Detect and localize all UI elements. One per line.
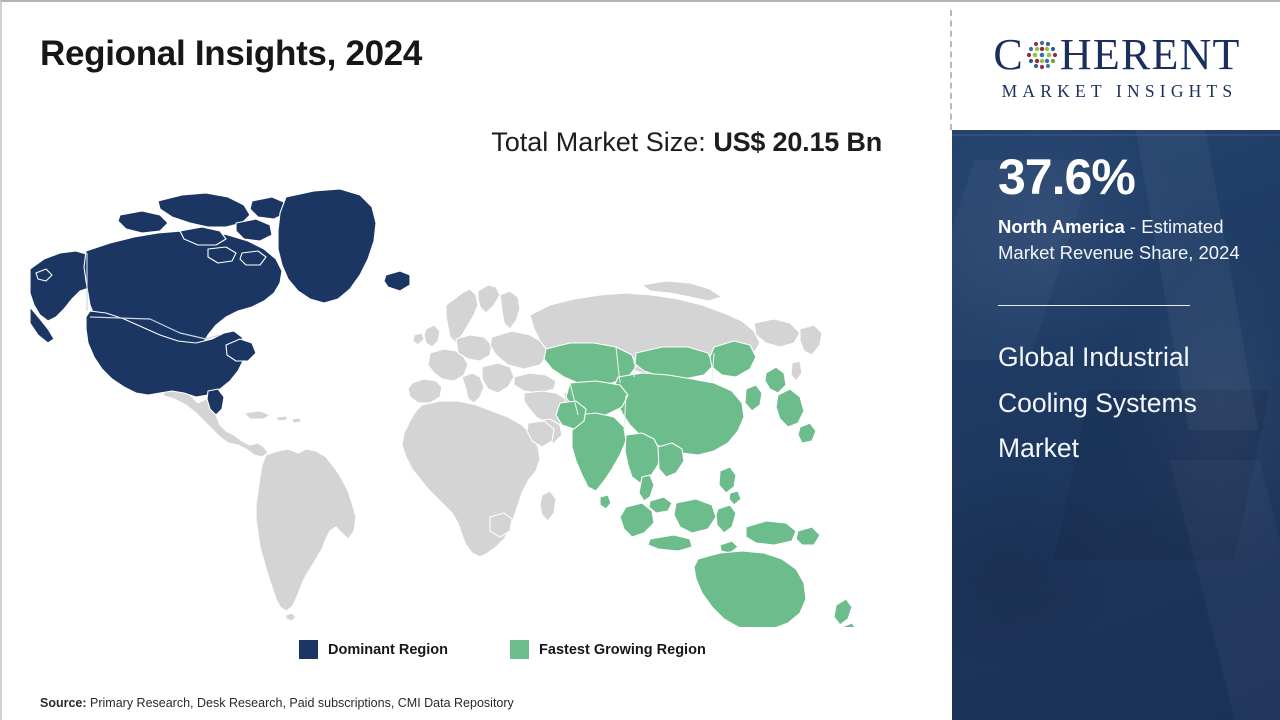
legend-item-fastest: Fastest Growing Region <box>510 640 706 659</box>
market-title: Global Industrial Cooling Systems Market <box>998 335 1248 472</box>
source-note: Source: Primary Research, Desk Research,… <box>40 696 514 710</box>
logo-wordmark-text: HERENT <box>1060 33 1241 77</box>
world-map-svg <box>30 187 920 627</box>
background-texture <box>1170 460 1280 720</box>
logo-letter-c: C <box>993 33 1024 77</box>
regional-stat-panel: 37.6% North America - Estimated Market R… <box>952 130 1280 720</box>
stat-divider-rule <box>998 305 1190 306</box>
stat-caption: North America - Estimated Market Revenue… <box>998 214 1240 267</box>
market-size-label: Total Market Size: <box>491 127 706 157</box>
legend-label-dominant: Dominant Region <box>328 642 448 658</box>
infographic-page: Regional Insights, 2024 Total Market Siz… <box>0 0 1280 720</box>
legend-swatch-dominant <box>299 640 318 659</box>
background-texture <box>952 134 1280 136</box>
page-title: Regional Insights, 2024 <box>40 34 422 74</box>
right-sidebar: C <box>952 2 1280 720</box>
legend-item-dominant: Dominant Region <box>299 640 448 659</box>
stat-region-name: North America <box>998 216 1125 237</box>
source-text: Primary Research, Desk Research, Paid su… <box>87 696 514 710</box>
brand-logo: C <box>952 4 1280 130</box>
map-legend: Dominant Region Fastest Growing Region <box>299 640 706 659</box>
logo-wordmark: C <box>993 32 1240 78</box>
total-market-size: Total Market Size: US$ 20.15 Bn <box>2 127 882 158</box>
map-region-fastest <box>544 341 858 627</box>
world-map <box>30 187 920 627</box>
legend-label-fastest: Fastest Growing Region <box>539 642 706 658</box>
market-size-value: US$ 20.15 Bn <box>713 127 882 157</box>
logo-subtitle: MARKET INSIGHTS <box>997 81 1238 102</box>
source-label: Source: <box>40 696 87 710</box>
globe-icon <box>1025 38 1059 72</box>
legend-swatch-fastest <box>510 640 529 659</box>
stat-percentage: 37.6% <box>998 152 1135 202</box>
left-content-panel: Regional Insights, 2024 Total Market Siz… <box>2 2 950 720</box>
